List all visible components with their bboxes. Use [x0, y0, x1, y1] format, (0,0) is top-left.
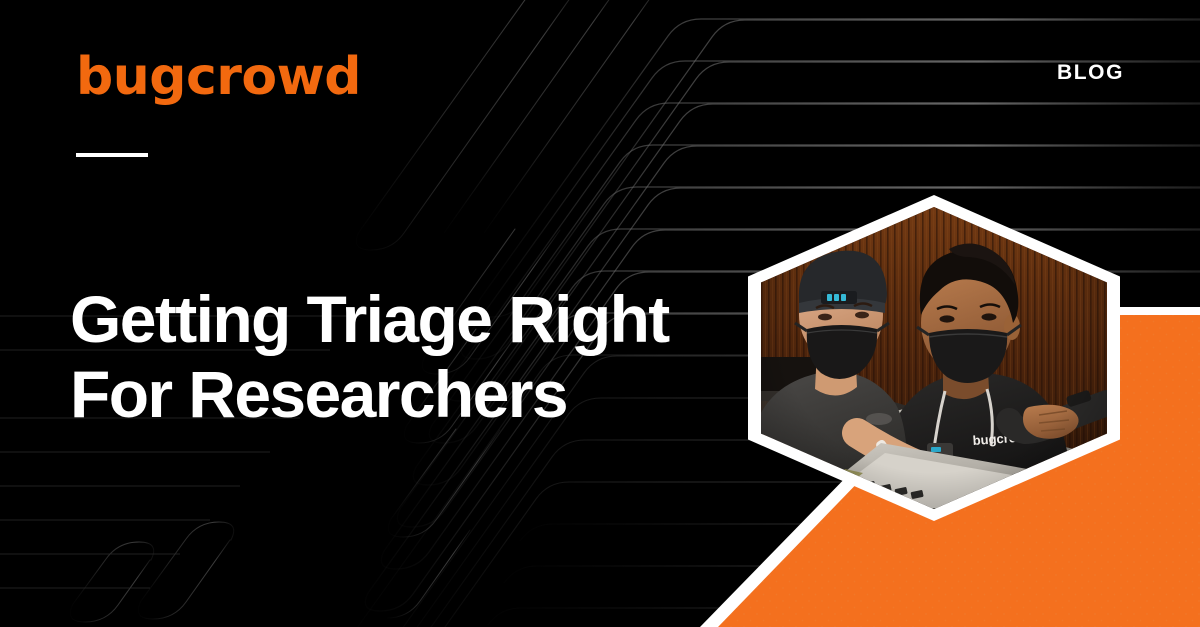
page-title-line-2: For Researchers: [70, 357, 790, 432]
hero-hexagon-photo: bugcrowd: [748, 195, 1120, 521]
page-title: Getting Triage Right For Researchers: [70, 282, 790, 432]
blog-eyebrow-label: BLOG: [1057, 62, 1124, 83]
photo-alt-text: Two masked security researchers collabor…: [748, 195, 749, 196]
page-title-line-1: Getting Triage Right: [70, 282, 790, 357]
blog-social-card: bugcrowd: [0, 0, 1200, 627]
bugcrowd-logo[interactable]: bugcrowd: [76, 51, 361, 103]
logo-divider: [76, 153, 148, 157]
